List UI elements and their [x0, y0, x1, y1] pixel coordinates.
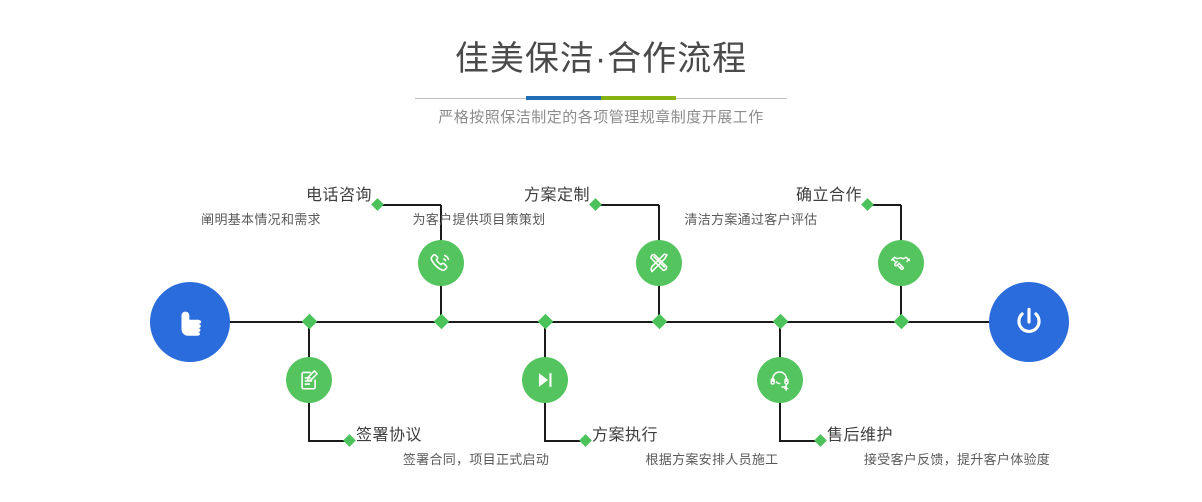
axis-marker-step-sign-agreement [302, 314, 318, 330]
step-label-step-phone-consult: 电话咨询 阐明基本情况和需求 [150, 186, 372, 229]
axis-marker-step-plan-custom [652, 314, 668, 330]
customer-service-icon [767, 367, 793, 393]
handshake-icon [888, 250, 914, 276]
pointing-hand-icon [170, 302, 210, 342]
label-marker-step-plan-custom [589, 198, 602, 211]
step-desc: 为客户提供项目策策划 [368, 211, 590, 229]
axis-marker-step-confirm-cooperation [894, 314, 910, 330]
document-edit-icon [296, 367, 322, 393]
step-desc: 阐明基本情况和需求 [150, 211, 372, 229]
step-title: 方案定制 [368, 186, 590, 206]
step-desc: 清洁方案通过客户评估 [640, 211, 862, 229]
play-next-icon [532, 367, 558, 393]
step-label-step-sign-agreement: 签署协议 签署合同，项目正式启动 [356, 426, 596, 469]
axis-marker-step-after-sales [773, 314, 789, 330]
step-icon-step-confirm-cooperation[interactable] [878, 240, 924, 286]
step-icon-step-after-sales[interactable] [757, 357, 803, 403]
step-title: 签署协议 [356, 426, 596, 446]
flow-start-node[interactable] [150, 282, 230, 362]
step-label-step-plan-custom: 方案定制 为客户提供项目策策划 [368, 186, 590, 229]
step-label-step-plan-execute: 方案执行 根据方案安排人员施工 [592, 426, 832, 469]
step-icon-step-plan-custom[interactable] [636, 240, 682, 286]
step-label-step-after-sales: 售后维护 接受客户反馈，提升客户体验度 [827, 426, 1087, 469]
step-desc: 接受客户反馈，提升客户体验度 [827, 451, 1087, 469]
step-icon-step-phone-consult[interactable] [418, 240, 464, 286]
step-icon-step-plan-execute[interactable] [522, 357, 568, 403]
label-marker-step-sign-agreement [343, 434, 356, 447]
power-icon [1008, 301, 1050, 343]
label-marker-step-confirm-cooperation [861, 198, 874, 211]
process-flow-diagram: 电话咨询 阐明基本情况和需求 方案定制 为客户提供项目策策划 [0, 0, 1202, 502]
step-label-step-confirm-cooperation: 确立合作 清洁方案通过客户评估 [640, 186, 862, 229]
step-desc: 根据方案安排人员施工 [592, 451, 832, 469]
timeline-axis [152, 321, 1054, 323]
axis-marker-step-phone-consult [434, 314, 450, 330]
phone-call-icon [428, 250, 454, 276]
step-title: 电话咨询 [150, 186, 372, 206]
step-title: 方案执行 [592, 426, 832, 446]
step-desc: 签署合同，项目正式启动 [356, 451, 596, 469]
pencil-ruler-icon [646, 250, 672, 276]
axis-marker-step-plan-execute [538, 314, 554, 330]
step-title: 售后维护 [827, 426, 1087, 446]
step-title: 确立合作 [640, 186, 862, 206]
step-icon-step-sign-agreement[interactable] [286, 357, 332, 403]
flow-end-node[interactable] [989, 282, 1069, 362]
